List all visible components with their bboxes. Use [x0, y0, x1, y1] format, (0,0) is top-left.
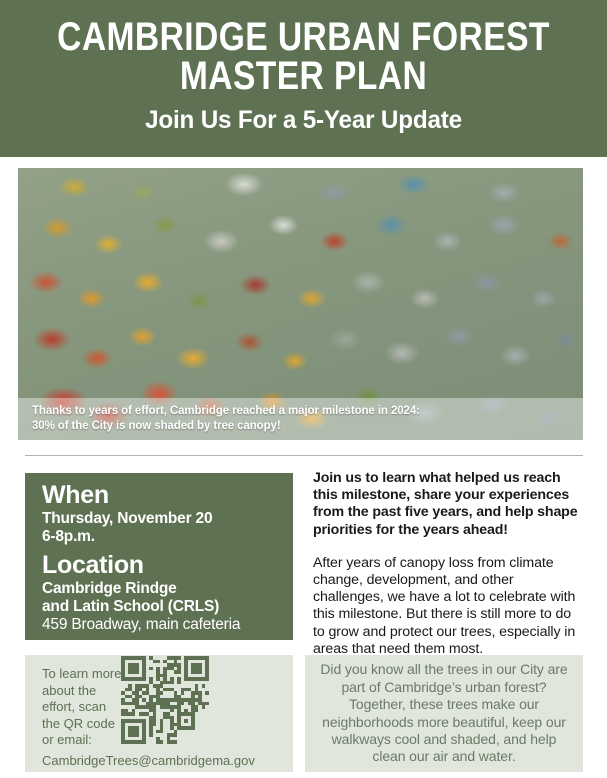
- when-time: 6-8p.m.: [42, 528, 279, 546]
- location-line-2: and Latin School (CRLS): [42, 598, 279, 616]
- location-heading: Location: [42, 546, 279, 580]
- poster-header: Cambridge Urban Forest Master Plan Join …: [0, 0, 607, 157]
- location-line-1: Cambridge Rindge: [42, 580, 279, 598]
- page-title: Cambridge Urban Forest Master Plan: [49, 18, 559, 96]
- hero-photo: Thanks to years of effort, Cambridge rea…: [18, 168, 583, 440]
- when-date: Thursday, November 20: [42, 510, 279, 528]
- page-title-line-2: Master Plan: [180, 54, 427, 98]
- section-divider: [25, 455, 583, 456]
- event-details-panel: When Thursday, November 20 6-8p.m. Locat…: [25, 473, 293, 640]
- qr-instructions: To learn more about the effort, scan the…: [42, 666, 122, 749]
- photo-caption-line-2: 30% of the City is now shaded by tree ca…: [32, 419, 552, 434]
- photo-caption: Thanks to years of effort, Cambridge rea…: [32, 404, 552, 434]
- qr-code-icon[interactable]: [121, 656, 209, 744]
- qr-info-box: To learn more about the effort, scan the…: [25, 655, 293, 772]
- body-text-column: Join us to learn what helped us reach th…: [313, 470, 585, 658]
- contact-email[interactable]: CambridgeTrees@cambridgema.gov: [42, 753, 255, 768]
- body-paragraph: After years of canopy loss from climate …: [313, 555, 585, 658]
- photo-caption-line-1: Thanks to years of effort, Cambridge rea…: [32, 404, 552, 419]
- when-heading: When: [42, 481, 279, 510]
- did-you-know-text: Did you know all the trees in our City a…: [305, 661, 583, 765]
- page-subtitle: Join Us For a 5-Year Update: [9, 96, 598, 135]
- location-address: 459 Broadway, main cafeteria: [42, 616, 279, 634]
- lead-paragraph: Join us to learn what helped us reach th…: [313, 470, 585, 539]
- did-you-know-box: Did you know all the trees in our City a…: [305, 655, 583, 772]
- page-title-line-1: Cambridge Urban Forest: [57, 15, 550, 59]
